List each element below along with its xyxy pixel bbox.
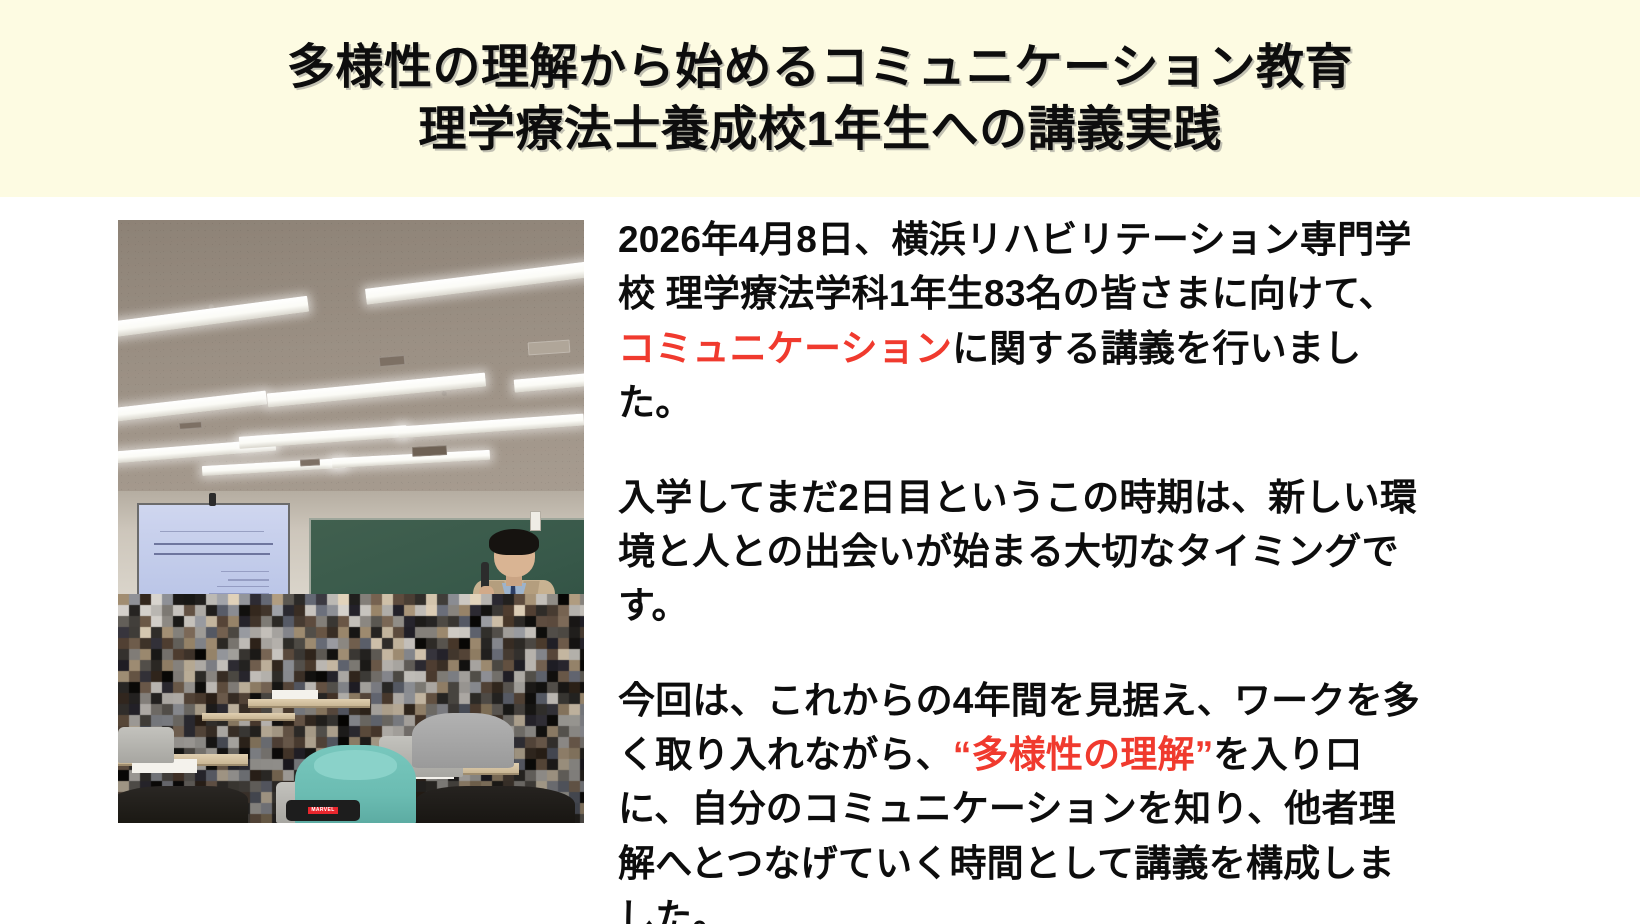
desk bbox=[248, 699, 369, 708]
ceiling-vent bbox=[300, 458, 320, 466]
highlighted-phrase: コミュニケーション bbox=[618, 328, 952, 369]
pencil-case-label: MARVEL bbox=[308, 807, 337, 814]
lecturer-hair bbox=[489, 529, 538, 555]
ceiling-vent bbox=[411, 445, 446, 456]
lecture-photo: MARVEL bbox=[118, 220, 584, 823]
article-text-column: 2026年4月8日、横浜リハビリテーション専門学校 理学療法学科1年生83名の皆… bbox=[618, 213, 1428, 924]
pencil-case: MARVEL bbox=[286, 800, 361, 821]
audience-area: MARVEL bbox=[118, 594, 584, 823]
ceiling-vent bbox=[528, 339, 571, 355]
ceiling-vent bbox=[379, 355, 405, 367]
slide-text-line bbox=[217, 586, 269, 587]
slide-text-line bbox=[154, 543, 274, 545]
slide-text-line bbox=[228, 579, 268, 580]
wall-switch bbox=[530, 511, 540, 532]
paragraph-1: 2026年4月8日、横浜リハビリテーション専門学校 理学療法学科1年生83名の皆… bbox=[618, 213, 1428, 431]
page-title-line-2: 理学療法士養成校1年生への講義実践 bbox=[418, 99, 1221, 160]
student-gray-hoodie bbox=[412, 713, 515, 768]
photo-scene: MARVEL bbox=[118, 220, 584, 823]
paragraph-3: 今回は、これからの4年間を見据え、ワークを多く取り入れながら、“多様性の理解”を… bbox=[618, 674, 1428, 924]
student-foreground-right bbox=[416, 786, 574, 823]
body-area: MARVEL 2026年4月8日、横浜リハビリテーション専門学校 理学療法学科1… bbox=[0, 197, 1640, 924]
chair bbox=[118, 727, 174, 764]
header-banner: 多様性の理解から始めるコミュニケーション教育 理学療法士養成校1年生への講義実践 bbox=[0, 0, 1640, 197]
slide-text-line bbox=[160, 531, 265, 532]
slide-text-line bbox=[154, 553, 271, 555]
slide-text-line bbox=[221, 571, 269, 572]
handout bbox=[272, 690, 319, 699]
page-title-line-1: 多様性の理解から始めるコミュニケーション教育 bbox=[287, 37, 1353, 98]
student-foreground-left bbox=[118, 786, 248, 823]
highlighted-phrase: “多様性の理解” bbox=[953, 734, 1214, 775]
desk bbox=[202, 713, 295, 721]
ceiling-camera bbox=[209, 493, 216, 506]
slide-root: 多様性の理解から始めるコミュニケーション教育 理学療法士養成校1年生への講義実践 bbox=[0, 0, 1640, 924]
paragraph-2: 入学してまだ2日目というこの時期は、新しい環境と人との出会いが始まる大切なタイミ… bbox=[618, 471, 1428, 634]
text-segment: 入学してまだ2日目というこの時期は、新しい環境と人との出会いが始まる大切なタイミ… bbox=[618, 477, 1417, 627]
text-segment: 2026年4月8日、横浜リハビリテーション専門学校 理学療法学科1年生83名の皆… bbox=[618, 219, 1412, 314]
